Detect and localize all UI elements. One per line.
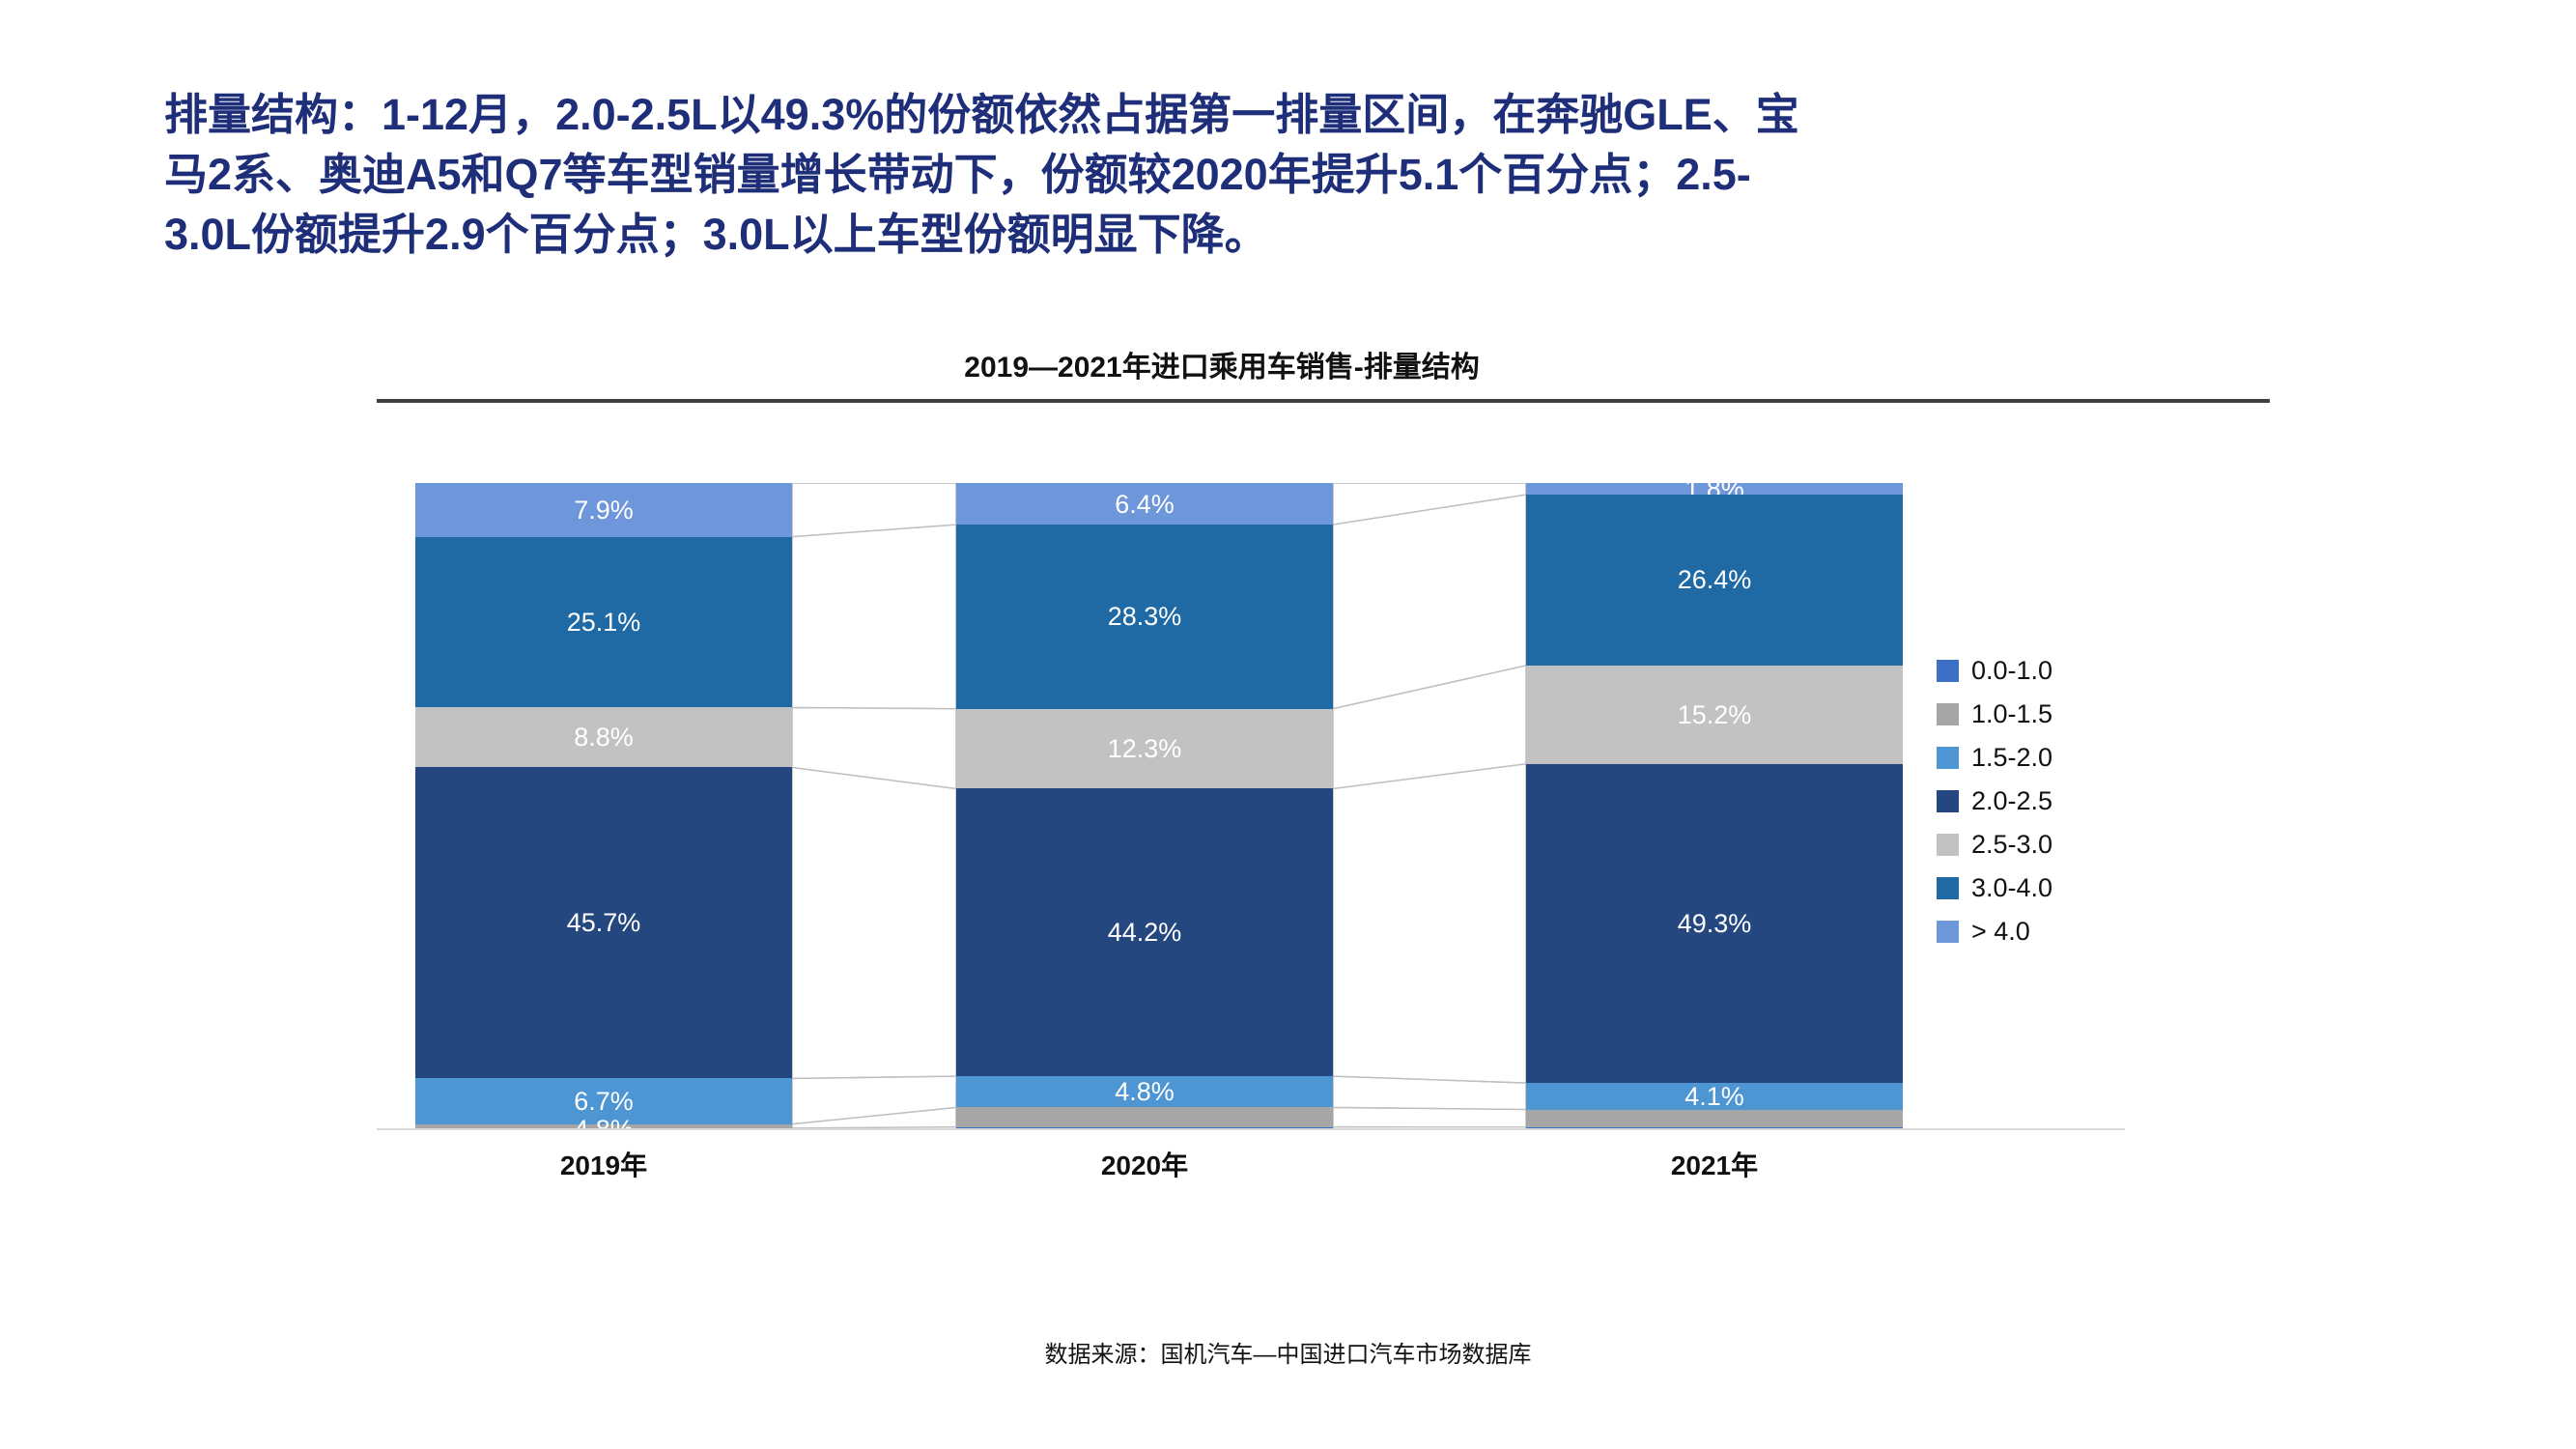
bar-segment-label: 7.9%: [415, 496, 792, 525]
bar-segment[interactable]: 4.1%: [1526, 1083, 1903, 1109]
connector-band: [1333, 1107, 1526, 1126]
legend-swatch-icon: [1937, 790, 1959, 812]
bar-segment[interactable]: 28.3%: [956, 525, 1333, 709]
bar-segment-label: 28.3%: [956, 602, 1333, 631]
stacked-bar[interactable]: 1.8%26.4%15.2%49.3%4.1%: [1526, 483, 1903, 1128]
bar-group: 1.8%26.4%15.2%49.3%4.1%: [1526, 483, 1903, 1128]
bar-segment-label: 25.1%: [415, 608, 792, 637]
bar-segment-label: 26.4%: [1526, 565, 1903, 594]
xtick-label-2: 2021年: [1526, 1145, 1903, 1183]
legend-swatch-icon: [1937, 834, 1959, 856]
connector-band: [792, 483, 956, 1130]
bar-segment[interactable]: 26.4%: [1526, 495, 1903, 666]
bar-group: 7.9%25.1%8.8%45.7%6.7%: [415, 483, 792, 1128]
bar-segment[interactable]: 12.3%: [956, 709, 1333, 789]
bar-segment-label: 49.3%: [1526, 909, 1903, 938]
headline-line-3: 3.0L份额提升2.9个百分点；3.0L以上车型份额明显下降。: [164, 205, 2415, 265]
legend-item[interactable]: > 4.0: [1937, 910, 2159, 953]
bar-group: 6.4%28.3%12.3%44.2%4.8%: [956, 483, 1333, 1128]
headline-line-2: 马2系、奥迪A5和Q7等车型销量增长带动下，份额较2020年提升5.1个百分点；…: [164, 145, 2415, 205]
bar-segment[interactable]: [956, 1107, 1333, 1126]
bar-segment-label: 8.8%: [415, 723, 792, 752]
connector-band: [792, 525, 956, 709]
bar-segment[interactable]: 7.9%: [415, 483, 792, 537]
chart-title: 2019—2021年进口乘用车销售-排量结构: [319, 343, 2125, 385]
bar-segment-label: 6.4%: [956, 490, 1333, 519]
legend-label: 2.0-2.5: [1971, 786, 2052, 816]
xtick-label-0: 2019年: [415, 1145, 792, 1183]
legend-label: > 4.0: [1971, 917, 2030, 947]
legend-swatch-icon: [1937, 660, 1959, 682]
legend-label: 1.0-1.5: [1971, 699, 2052, 729]
legend-item[interactable]: 3.0-4.0: [1937, 867, 2159, 910]
connector-band: [1333, 483, 1526, 525]
bar-segment[interactable]: 49.3%: [1526, 764, 1903, 1083]
stacked-bar[interactable]: 6.4%28.3%12.3%44.2%4.8%: [956, 483, 1333, 1128]
bar-segment[interactable]: 44.2%: [956, 788, 1333, 1076]
chart-legend: 0.0-1.01.0-1.51.5-2.02.0-2.52.5-3.03.0-4…: [1937, 649, 2159, 953]
legend-item[interactable]: 1.5-2.0: [1937, 736, 2159, 780]
legend-swatch-icon: [1937, 747, 1959, 769]
bar-segment-label: 4.8%: [956, 1077, 1333, 1106]
legend-label: 3.0-4.0: [1971, 873, 2052, 903]
connector-band: [1333, 666, 1526, 789]
bar-segment-label: 15.2%: [1526, 700, 1903, 729]
connector-band: [1333, 1076, 1526, 1109]
connector-band: [792, 483, 956, 537]
bar-segment[interactable]: [1526, 1110, 1903, 1127]
bar-segment[interactable]: 25.1%: [415, 537, 792, 708]
connector-band: [1333, 483, 1526, 1130]
legend-label: 0.0-1.0: [1971, 656, 2052, 686]
connector-band: [792, 767, 956, 1078]
connector-band: [1333, 495, 1526, 709]
category-axis-line: [377, 1128, 2125, 1130]
legend-item[interactable]: 2.0-2.5: [1937, 780, 2159, 823]
bar-segment[interactable]: 4.8%: [956, 1076, 1333, 1107]
bar-segment-label: 12.3%: [956, 734, 1333, 763]
bar-segment-label: 6.7%: [415, 1087, 792, 1116]
stacked-bar[interactable]: 7.9%25.1%8.8%45.7%6.7%: [415, 483, 792, 1128]
plot-area: 7.9%25.1%8.8%45.7%6.7%6.4%28.3%12.3%44.2…: [377, 483, 2125, 1130]
bar-segment[interactable]: 15.2%: [1526, 666, 1903, 764]
connector-band: [1333, 764, 1526, 1083]
bar-segment-label: 4.1%: [1526, 1082, 1903, 1111]
connector-band: [792, 707, 956, 788]
legend-label: 2.5-3.0: [1971, 830, 2052, 860]
legend-label: 1.5-2.0: [1971, 743, 2052, 773]
legend-swatch-icon: [1937, 703, 1959, 725]
bar-segment[interactable]: 8.8%: [415, 707, 792, 767]
bar-segment-label: 44.2%: [956, 918, 1333, 947]
connector-band: [792, 1076, 956, 1124]
legend-item[interactable]: 0.0-1.0: [1937, 649, 2159, 693]
bar-segment[interactable]: 1.8%: [1526, 483, 1903, 495]
legend-item[interactable]: 1.0-1.5: [1937, 693, 2159, 736]
data-source-footnote: 数据来源：国机汽车—中国进口汽车市场数据库: [0, 1335, 2576, 1369]
slide-headline: 排量结构：1-12月，2.0-2.5L以49.3%的份额依然占据第一排量区间，在…: [164, 85, 2415, 265]
legend-swatch-icon: [1937, 921, 1959, 943]
legend-swatch-icon: [1937, 877, 1959, 899]
bar-segment-label: 45.7%: [415, 908, 792, 937]
headline-line-1: 排量结构：1-12月，2.0-2.5L以49.3%的份额依然占据第一排量区间，在…: [164, 85, 2415, 145]
clipped-bar-label: 4.8%: [415, 1115, 792, 1128]
chart-title-divider: [377, 399, 2270, 403]
xtick-label-1: 2020年: [956, 1145, 1333, 1183]
bar-segment[interactable]: 45.7%: [415, 767, 792, 1078]
bar-segment[interactable]: 6.4%: [956, 483, 1333, 525]
legend-item[interactable]: 2.5-3.0: [1937, 823, 2159, 867]
